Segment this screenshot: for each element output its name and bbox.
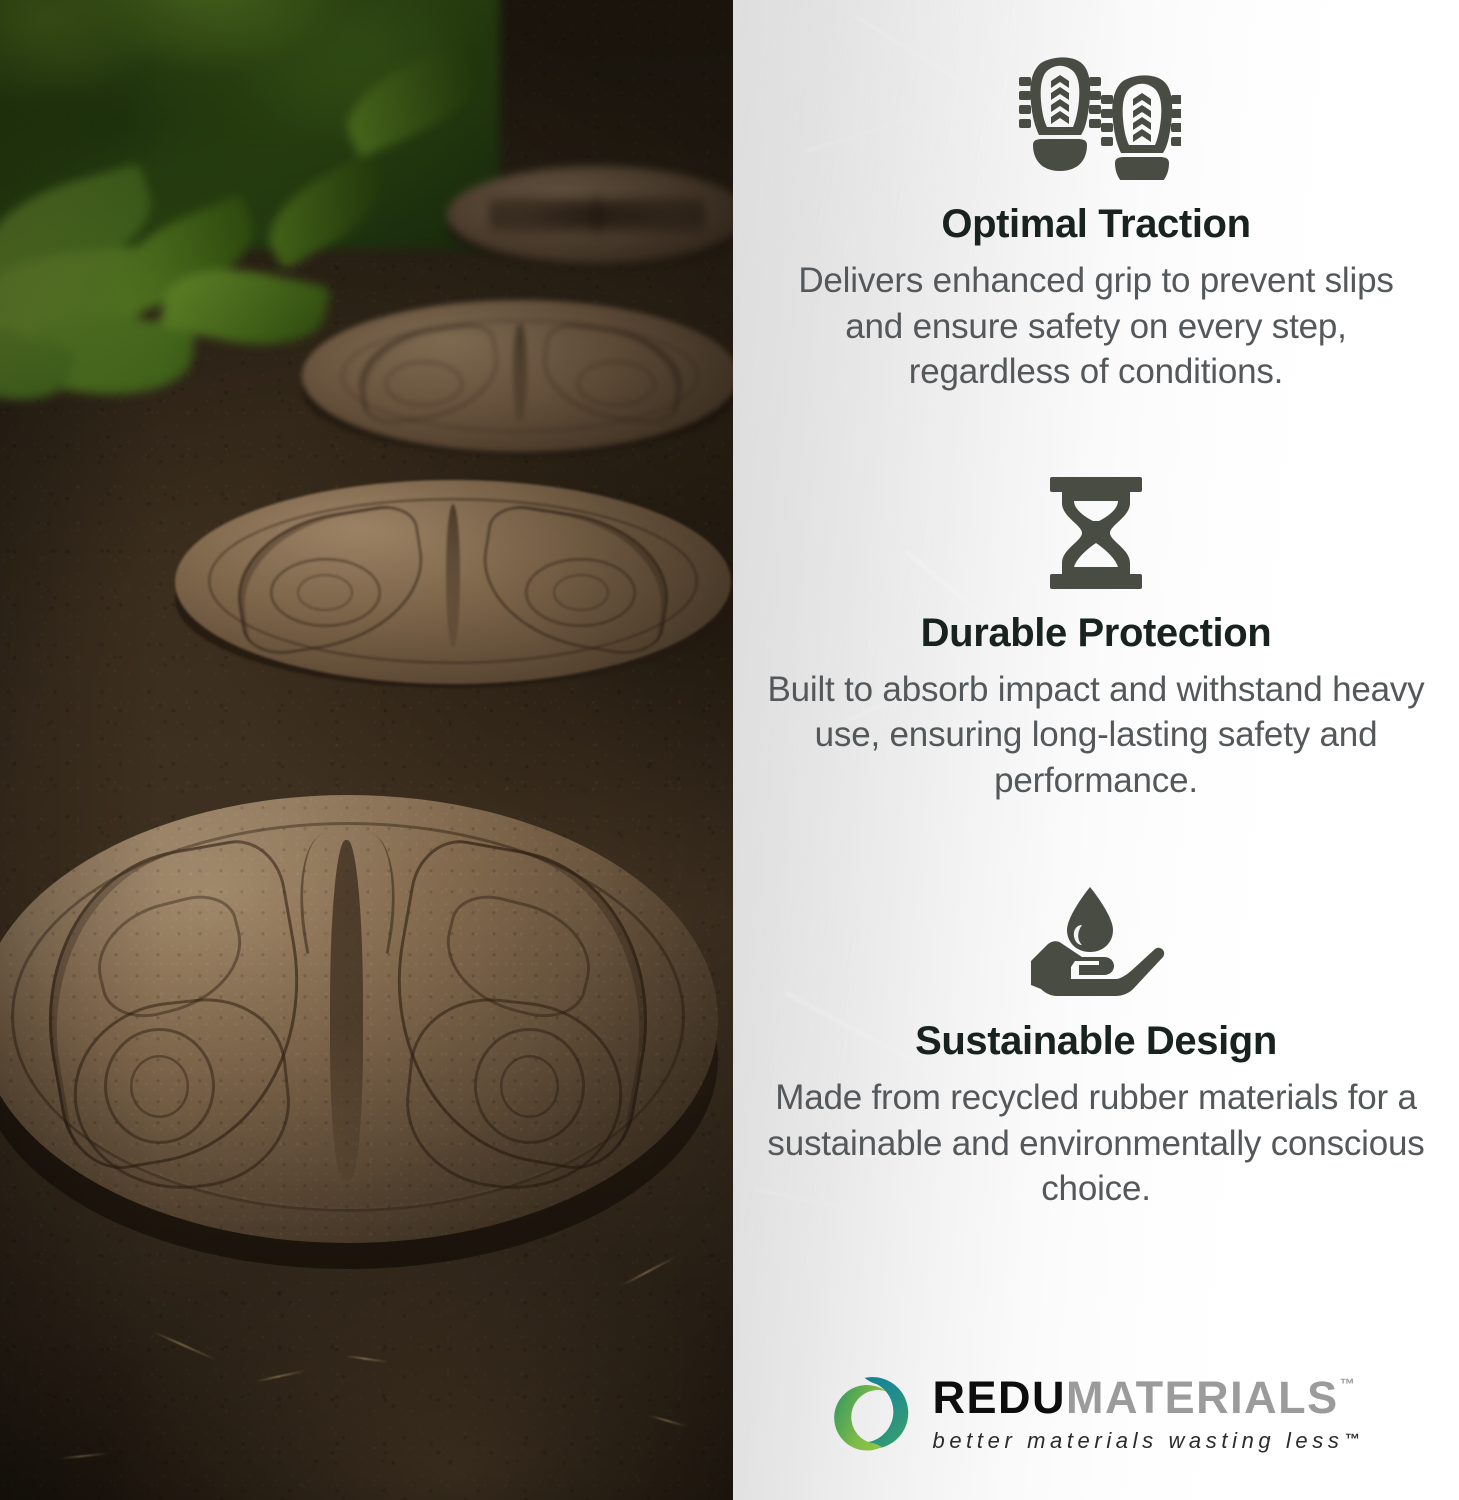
feature-body: Made from recycled rubber materials for … <box>766 1075 1426 1212</box>
product-feature-image: Optimal Traction Delivers enhanced grip … <box>0 0 1459 1500</box>
feature-body: Built to absorb impact and withstand hea… <box>766 667 1426 804</box>
hand-holding-droplet-icon <box>743 865 1449 997</box>
feature-panel: Optimal Traction Delivers enhanced grip … <box>733 0 1459 1500</box>
stepping-stone <box>447 166 733 264</box>
stepping-stone <box>302 300 733 452</box>
brand-tagline: better materials wasting less ™ <box>933 1430 1360 1452</box>
stone-face <box>175 480 731 684</box>
brand-tagline-text: better materials wasting less <box>933 1430 1344 1452</box>
stepping-stone-foreground <box>0 795 718 1295</box>
feature-body: Delivers enhanced grip to prevent slips … <box>766 258 1426 395</box>
feature-optimal-traction: Optimal Traction Delivers enhanced grip … <box>743 48 1449 395</box>
brand-logo: REDU MATERIALS ™ better materials wastin… <box>733 1374 1459 1452</box>
feature-title: Optimal Traction <box>743 202 1449 246</box>
trademark-symbol: ™ <box>1340 1377 1355 1392</box>
feature-durable-protection: Durable Protection Built to absorb impac… <box>743 457 1449 804</box>
brand-name-primary: REDU <box>933 1375 1067 1420</box>
feature-title: Durable Protection <box>743 611 1449 655</box>
product-photo <box>0 0 733 1500</box>
brand-name: REDU MATERIALS ™ <box>933 1375 1360 1420</box>
brand-name-secondary: MATERIALS <box>1066 1375 1339 1420</box>
stepping-stone <box>175 480 731 684</box>
hourglass-icon <box>743 457 1449 589</box>
stone-face <box>0 795 718 1243</box>
tagline-trademark-symbol: ™ <box>1344 1432 1359 1447</box>
stone-face <box>447 166 733 264</box>
stone-face <box>302 300 733 452</box>
feature-title: Sustainable Design <box>743 1019 1449 1063</box>
brand-wordmark: REDU MATERIALS ™ better materials wastin… <box>933 1375 1360 1452</box>
feature-list: Optimal Traction Delivers enhanced grip … <box>733 0 1459 1212</box>
feature-sustainable-design: Sustainable Design Made from recycled ru… <box>743 865 1449 1212</box>
interlocking-rings-swirl-icon <box>833 1374 911 1452</box>
boot-print-icon <box>743 48 1449 180</box>
